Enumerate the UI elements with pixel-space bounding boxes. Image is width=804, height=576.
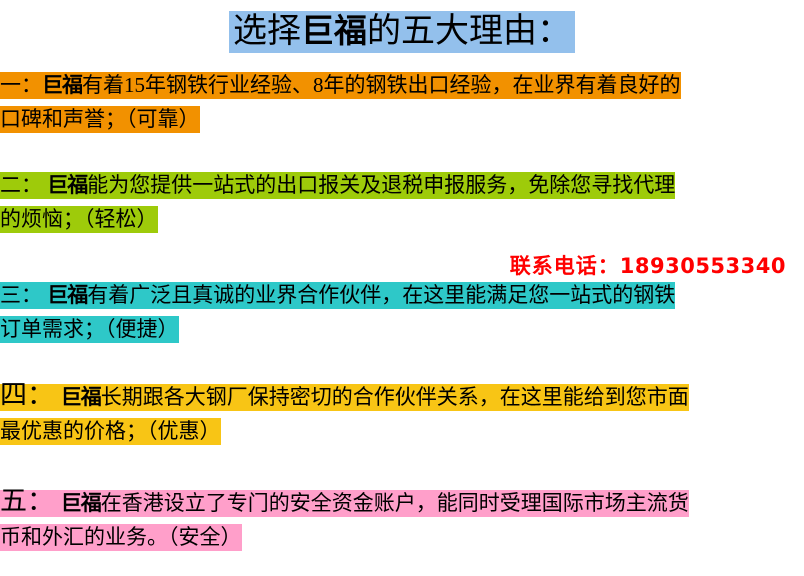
reason-4-line-1-highlight: 四： 巨福长期跟各大钢厂保持密切的合作伙伴关系，在这里能给到您市面	[0, 384, 689, 411]
reason-1-marker: 一：	[0, 73, 42, 97]
reason-1-brand: 巨福	[42, 73, 82, 97]
reason-1-line-2-highlight: 口碑和声誉；（可靠）	[0, 106, 200, 133]
reason-2-line-2: 的烦恼；（轻松）	[0, 202, 804, 236]
contact-phone-line: 联系电话：18930553340	[510, 250, 786, 280]
page-title-suffix: 的五大理由：	[367, 13, 571, 50]
reason-item-4: 四： 巨福长期跟各大钢厂保持密切的合作伙伴关系，在这里能给到您市面 最优惠的价格…	[0, 378, 804, 448]
slide-canvas: 选择巨福的五大理由： 一：巨福有着15年钢铁行业经验、8年的钢铁出口经验，在业界…	[0, 0, 804, 576]
reason-3-brand: 巨福	[47, 283, 87, 307]
reason-4-marker: 四：	[0, 380, 61, 410]
reason-5-line-1: 五： 巨福在香港设立了专门的安全资金账户，能同时受理国际市场主流货	[0, 484, 804, 520]
reason-2-line-2-highlight: 的烦恼；（轻松）	[0, 206, 158, 233]
reason-5-line-2-highlight: 币和外汇的业务。（安全）	[0, 524, 242, 551]
reason-4-brand: 巨福	[61, 385, 101, 409]
reason-item-1: 一：巨福有着15年钢铁行业经验、8年的钢铁出口经验，在业界有着良好的 口碑和声誉…	[0, 68, 804, 136]
page-title-highlight: 选择巨福的五大理由：	[229, 11, 575, 53]
reason-5-marker: 五：	[0, 486, 61, 516]
brand-name: 巨福	[301, 11, 367, 50]
reason-4-line-2: 最优惠的价格；（优惠）	[0, 414, 804, 448]
reason-3-line-1-text: 有着广泛且真诚的业界合作伙伴，在这里能满足您一站式的钢铁	[87, 283, 675, 307]
reason-item-2: 二： 巨福能为您提供一站式的出口报关及退税申报服务，免除您寻找代理 的烦恼；（轻…	[0, 168, 804, 236]
reason-2-marker: 二：	[0, 173, 47, 197]
reason-5-brand: 巨福	[61, 491, 101, 515]
reason-3-line-1: 三： 巨福有着广泛且真诚的业界合作伙伴，在这里能满足您一站式的钢铁	[0, 278, 804, 312]
reason-1-line-1: 一：巨福有着15年钢铁行业经验、8年的钢铁出口经验，在业界有着良好的	[0, 68, 804, 102]
reason-item-3: 三： 巨福有着广泛且真诚的业界合作伙伴，在这里能满足您一站式的钢铁 订单需求；（…	[0, 278, 804, 346]
reason-5-line-1-highlight: 五： 巨福在香港设立了专门的安全资金账户，能同时受理国际市场主流货	[0, 490, 689, 517]
reason-3-line-2: 订单需求；（便捷）	[0, 312, 804, 346]
contact-label: 联系电话：	[510, 254, 620, 278]
reason-3-line-2-highlight: 订单需求；（便捷）	[0, 316, 179, 343]
reason-2-line-1-highlight: 二： 巨福能为您提供一站式的出口报关及退税申报服务，免除您寻找代理	[0, 172, 675, 199]
reason-2-line-1: 二： 巨福能为您提供一站式的出口报关及退税申报服务，免除您寻找代理	[0, 168, 804, 202]
reason-1-line-2: 口碑和声誉；（可靠）	[0, 102, 804, 136]
reason-1-line-1-highlight: 一：巨福有着15年钢铁行业经验、8年的钢铁出口经验，在业界有着良好的	[0, 72, 681, 99]
reason-item-5: 五： 巨福在香港设立了专门的安全资金账户，能同时受理国际市场主流货 币和外汇的业…	[0, 484, 804, 554]
reason-3-line-1-highlight: 三： 巨福有着广泛且真诚的业界合作伙伴，在这里能满足您一站式的钢铁	[0, 282, 675, 309]
reason-5-line-2: 币和外汇的业务。（安全）	[0, 520, 804, 554]
page-title: 选择巨福的五大理由：	[0, 14, 804, 49]
reason-4-line-2-highlight: 最优惠的价格；（优惠）	[0, 418, 221, 445]
reason-2-brand: 巨福	[47, 173, 87, 197]
reason-5-line-1-text: 在香港设立了专门的安全资金账户，能同时受理国际市场主流货	[101, 491, 689, 515]
page-title-prefix: 选择	[233, 13, 301, 50]
contact-phone-number[interactable]: 18930553340	[620, 254, 786, 278]
reason-3-marker: 三：	[0, 283, 47, 307]
reason-2-line-1-text: 能为您提供一站式的出口报关及退税申报服务，免除您寻找代理	[87, 173, 675, 197]
reason-4-line-1: 四： 巨福长期跟各大钢厂保持密切的合作伙伴关系，在这里能给到您市面	[0, 378, 804, 414]
reason-1-line-1-text: 有着15年钢铁行业经验、8年的钢铁出口经验，在业界有着良好的	[82, 73, 681, 97]
reason-4-line-1-text: 长期跟各大钢厂保持密切的合作伙伴关系，在这里能给到您市面	[101, 385, 689, 409]
